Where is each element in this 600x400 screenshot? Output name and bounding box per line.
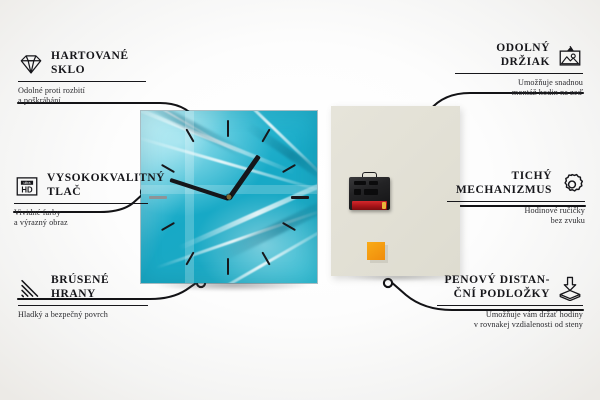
feature-silent-mechanism: TICHÝ MECHANIZMUS Hodinové ručičky bez z… bbox=[447, 170, 585, 227]
feature-title: VYSOKOKVALITNÝ TLAČ bbox=[47, 172, 165, 199]
feature-divider bbox=[18, 305, 148, 306]
infographic-canvas: HARTOVANÉ SKLO Odolné proti rozbití a po… bbox=[0, 0, 600, 400]
feature-description: Hodinové ručičky bez zvuku bbox=[447, 206, 585, 227]
feature-high-quality-print: ultra HD VYSOKOKVALITNÝ TLAČ Vividné far… bbox=[14, 172, 148, 229]
feature-head: TICHÝ MECHANIZMUS bbox=[447, 170, 585, 197]
feature-head: ultra HD VYSOKOKVALITNÝ TLAČ bbox=[14, 172, 148, 199]
feature-head: ODOLNÝ DRŽIAK bbox=[455, 42, 583, 69]
svg-text:ultra: ultra bbox=[24, 181, 31, 185]
feature-head: BRÚSENÉ HRANY bbox=[18, 274, 148, 301]
clock-mechanism bbox=[349, 172, 390, 210]
feature-foam-spacers: PENOVÝ DISTAN- ČNÍ PODLOŽKY Umožňuje vám… bbox=[437, 274, 583, 331]
feature-head: PENOVÝ DISTAN- ČNÍ PODLOŽKY bbox=[437, 274, 583, 301]
gear-icon bbox=[559, 171, 585, 197]
feature-title: PENOVÝ DISTAN- ČNÍ PODLOŽKY bbox=[444, 274, 550, 301]
product-clock bbox=[141, 111, 317, 283]
feature-tempered-glass: HARTOVANÉ SKLO Odolné proti rozbití a po… bbox=[18, 50, 146, 107]
brushed-edges-icon bbox=[18, 275, 44, 301]
clock-tick bbox=[161, 222, 175, 231]
foam-spacer-pad bbox=[367, 242, 385, 260]
feature-divider bbox=[447, 201, 585, 202]
feature-description: Hladký a bezpečný povrch bbox=[18, 310, 148, 320]
feature-title: HARTOVANÉ SKLO bbox=[51, 50, 129, 77]
clock-center-pin bbox=[227, 195, 232, 200]
feature-divider bbox=[18, 81, 146, 82]
feature-description: Umožňuje snadnou montáž hodin na zeď bbox=[455, 78, 583, 99]
aa-battery bbox=[352, 201, 387, 210]
foam-spacer-icon bbox=[557, 275, 583, 301]
diamond-icon bbox=[18, 51, 44, 77]
clock-face bbox=[141, 111, 317, 283]
clock-tick bbox=[227, 258, 229, 275]
svg-text:HD: HD bbox=[21, 185, 33, 194]
mechanism-body bbox=[349, 177, 390, 210]
feature-description: Odolné proti rozbití a poškrábání bbox=[18, 86, 146, 107]
ultra-hd-badge-icon: ultra HD bbox=[14, 173, 40, 199]
feature-head: HARTOVANÉ SKLO bbox=[18, 50, 146, 77]
feature-description: Umožňuje vám držať hodiny v rovnakej vzd… bbox=[437, 310, 583, 331]
feature-title: ODOLNÝ DRŽIAK bbox=[496, 42, 550, 69]
clock-tick bbox=[227, 120, 229, 137]
wall-mount-picture-icon bbox=[557, 43, 583, 69]
feature-divider bbox=[14, 203, 148, 204]
clock-tick bbox=[291, 196, 309, 199]
feature-title: BRÚSENÉ HRANY bbox=[51, 274, 109, 301]
feature-divider bbox=[437, 305, 583, 306]
feature-description: Vividné farby a výrazný obraz bbox=[14, 208, 148, 229]
feature-brushed-edges: BRÚSENÉ HRANY Hladký a bezpečný povrch bbox=[18, 274, 148, 320]
feature-title: TICHÝ MECHANIZMUS bbox=[456, 170, 552, 197]
feature-durable-holder: ODOLNÝ DRŽIAK Umožňuje snadnou montáž ho… bbox=[455, 42, 583, 99]
battery-positive-tip bbox=[382, 202, 386, 209]
feature-divider bbox=[455, 73, 583, 74]
